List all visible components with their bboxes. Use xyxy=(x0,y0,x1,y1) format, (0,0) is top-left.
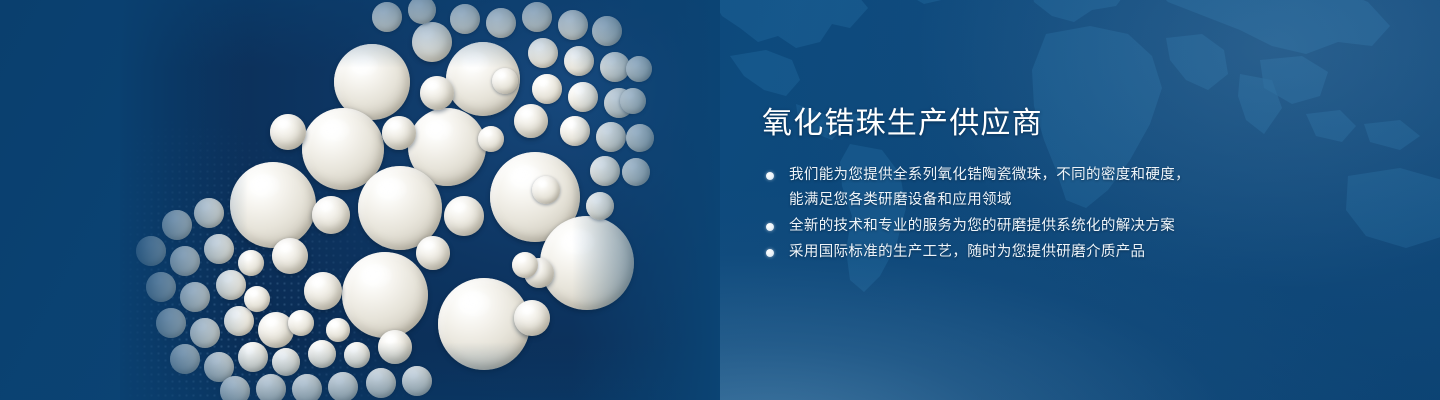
bullet-line: 全新的技术和专业的服务为您的研磨提供系统化的解决方案 xyxy=(789,214,1232,239)
page-title: 氧化锆珠生产供应商 xyxy=(762,104,1232,144)
bullet-dot-icon xyxy=(766,172,774,180)
bullet-line: 能满足您各类研磨设备和应用领域 xyxy=(789,188,1232,213)
bullet-line: 采用国际标准的生产工艺，随时为您提供研磨介质产品 xyxy=(789,240,1232,265)
feature-bullet-list: 我们能为您提供全系列氧化锆陶瓷微珠，不同的密度和硬度， 能满足您各类研磨设备和应… xyxy=(762,163,1232,265)
bullet-dot-icon xyxy=(766,223,774,231)
banner-copy: 氧化锆珠生产供应商 我们能为您提供全系列氧化锆陶瓷微珠，不同的密度和硬度， 能满… xyxy=(762,104,1232,265)
hero-banner: 氧化锆珠生产供应商 我们能为您提供全系列氧化锆陶瓷微珠，不同的密度和硬度， 能满… xyxy=(0,0,1440,400)
list-item: 我们能为您提供全系列氧化锆陶瓷微珠，不同的密度和硬度， 能满足您各类研磨设备和应… xyxy=(762,163,1232,213)
list-item: 采用国际标准的生产工艺，随时为您提供研磨介质产品 xyxy=(762,240,1232,265)
list-item: 全新的技术和专业的服务为您的研磨提供系统化的解决方案 xyxy=(762,214,1232,239)
bullet-dot-icon xyxy=(766,249,774,257)
bullet-line: 我们能为您提供全系列氧化锆陶瓷微珠，不同的密度和硬度， xyxy=(789,163,1232,188)
